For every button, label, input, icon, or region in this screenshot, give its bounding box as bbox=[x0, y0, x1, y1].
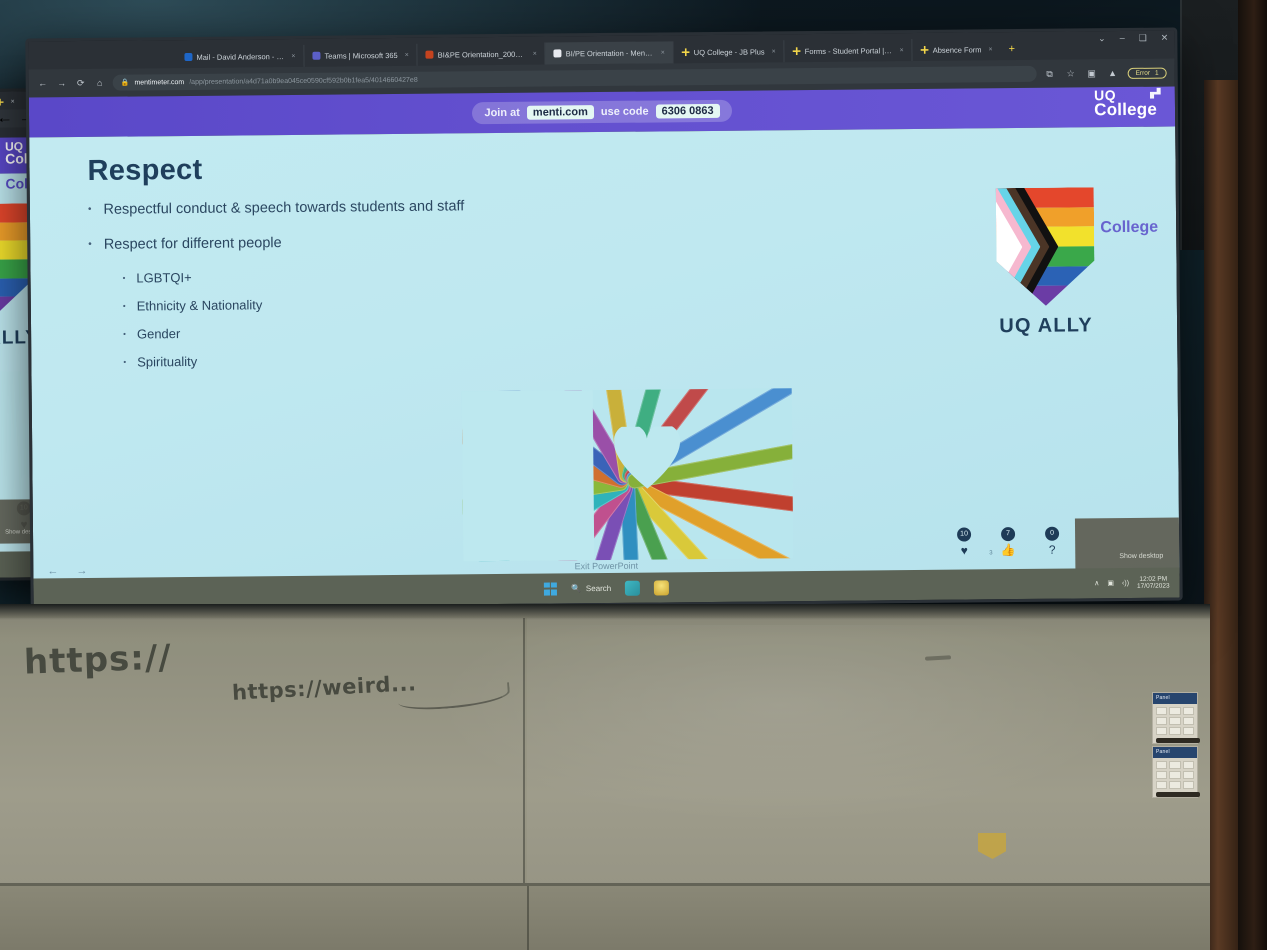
wall-control-panel[interactable]: Panel bbox=[1152, 692, 1198, 744]
sub-bullet-text: Ethnicity & Nationality bbox=[137, 298, 263, 314]
minimize-icon[interactable]: – bbox=[1120, 33, 1125, 44]
show-desktop-label[interactable]: Show desktop bbox=[1119, 553, 1163, 560]
bullet-marker: • bbox=[88, 236, 92, 255]
join-domain: menti.com bbox=[527, 105, 594, 120]
thumbs-up-icon: 👍 bbox=[997, 543, 1019, 557]
sub-bullet-item: • LGBTQI+ bbox=[123, 267, 519, 286]
tray-chevron-icon[interactable]: ∧ bbox=[1094, 579, 1099, 587]
wall-panel-buttons[interactable] bbox=[1153, 758, 1197, 792]
tray-network-icon[interactable]: ▣ bbox=[1107, 579, 1114, 587]
whiteboard-lower-seam bbox=[527, 886, 529, 950]
url-host: mentimeter.com bbox=[134, 79, 184, 86]
taskbar-search[interactable]: 🔍 Search bbox=[571, 583, 611, 592]
plus-icon bbox=[682, 48, 690, 56]
teal-app-icon[interactable] bbox=[625, 580, 640, 595]
chevron-down-icon[interactable]: ⌄ bbox=[1098, 33, 1106, 44]
taskbar-clock[interactable]: 12:02 PM 17/07/2023 bbox=[1137, 575, 1170, 590]
join-code: 6306 0863 bbox=[656, 104, 720, 119]
hands-forming-heart-image bbox=[462, 388, 794, 561]
start-icon[interactable] bbox=[544, 582, 557, 595]
tab-close-icon[interactable]: × bbox=[988, 46, 992, 53]
browser-tab[interactable]: Absence Form × bbox=[913, 38, 1001, 61]
wall-panel-bar bbox=[1156, 738, 1200, 743]
sub-bullet-text: LGBTQI+ bbox=[136, 270, 191, 286]
left-tab-close[interactable]: × bbox=[11, 99, 15, 106]
reaction-heart[interactable]: 10 ♥ bbox=[953, 527, 975, 557]
slide-navigation[interactable]: ← → bbox=[47, 565, 87, 577]
tab-close-icon[interactable]: × bbox=[291, 52, 295, 59]
sub-bullet-text: Gender bbox=[137, 326, 181, 341]
left-back-icon[interactable]: ← bbox=[0, 110, 13, 128]
sub-bullet-text: Spirituality bbox=[137, 354, 197, 370]
bullet-item: • Respect for different people bbox=[88, 232, 518, 255]
show-desktop-strip[interactable] bbox=[1075, 517, 1180, 574]
window-controls[interactable]: ⌄ – ❑ ✕ bbox=[1098, 33, 1168, 45]
taskbar-center-group[interactable]: 🔍 Search bbox=[544, 580, 669, 596]
browser-tab[interactable]: BI&PE Orientation_200331.pptx × bbox=[418, 43, 546, 66]
pride-chevron bbox=[996, 188, 1053, 307]
slide-title: Respect bbox=[87, 154, 202, 188]
lock-icon: 🔒 bbox=[121, 79, 130, 87]
wall-control-panel[interactable]: Panel bbox=[1152, 746, 1198, 798]
primary-monitor: Mail - David Anderson - Outlook × Teams … bbox=[25, 27, 1182, 611]
tray-volume-icon[interactable]: ‹)) bbox=[1122, 579, 1129, 586]
sub-bullet-marker: • bbox=[123, 271, 126, 286]
question-icon: ? bbox=[1041, 543, 1063, 557]
url-path: /app/presentation/a4d71a0b9ea045ce0590cf… bbox=[189, 76, 418, 85]
forward-icon[interactable]: → bbox=[56, 78, 68, 88]
heart-count: 10 bbox=[957, 527, 971, 541]
refresh-icon[interactable]: ⟳ bbox=[75, 77, 87, 88]
browser-tab[interactable]: UQ College - JB Plus × bbox=[674, 40, 785, 63]
close-icon[interactable]: ✕ bbox=[1161, 33, 1169, 44]
sub-bullet-marker: • bbox=[123, 299, 126, 314]
wall-panel-bar bbox=[1156, 792, 1200, 797]
toolbar-actions[interactable]: ⧉ ☆ ▣ ▲ Error 1 bbox=[1044, 67, 1167, 79]
outlook-icon bbox=[184, 53, 192, 61]
plus-icon bbox=[793, 47, 801, 55]
plus-icon bbox=[0, 99, 4, 106]
whiteboard-lower-row bbox=[0, 886, 1210, 950]
address-bar[interactable]: 🔒 mentimeter.com /app/presentation/a4d71… bbox=[113, 66, 1037, 91]
bulb-app-icon[interactable] bbox=[654, 580, 669, 595]
next-slide-button[interactable]: → bbox=[76, 565, 87, 577]
new-tab-button[interactable]: + bbox=[1000, 38, 1023, 60]
error-badge[interactable]: Error 1 bbox=[1128, 67, 1167, 78]
join-mid-text: use code bbox=[601, 106, 649, 118]
clock-date: 17/07/2023 bbox=[1137, 583, 1170, 591]
wall-panel-buttons[interactable] bbox=[1153, 704, 1197, 738]
question-count: 0 bbox=[1045, 527, 1059, 541]
reaction-thumbs-up[interactable]: 7 👍 3 bbox=[997, 527, 1019, 557]
audience-reactions[interactable]: 10 ♥ 7 👍 3 0 ? bbox=[953, 527, 1063, 558]
sub-bullet-marker: • bbox=[123, 327, 126, 342]
heart-icon: ♥ bbox=[953, 543, 975, 557]
wooden-door-edge bbox=[1238, 0, 1267, 950]
tab-close-icon[interactable]: × bbox=[661, 49, 665, 56]
search-icon: 🔍 bbox=[571, 584, 581, 593]
progress-pride-shield-icon bbox=[996, 187, 1095, 306]
plus-icon bbox=[921, 46, 929, 54]
thumbs-up-count: 7 bbox=[1001, 527, 1015, 541]
browser-tab[interactable]: Teams | Microsoft 365 × bbox=[304, 44, 418, 67]
sub-bullet-marker: • bbox=[123, 355, 126, 370]
logo-line-2: College bbox=[1094, 102, 1157, 119]
wall-panel-label: Panel bbox=[1153, 693, 1197, 704]
join-prefix: Join at bbox=[484, 107, 520, 119]
browser-tab-active[interactable]: BI/PE Orientation - Mentimeter × bbox=[546, 41, 674, 64]
logo-ghost-text: College bbox=[1100, 219, 1158, 238]
browser-tab[interactable]: Forms - Student Portal | UQ Co × bbox=[785, 39, 913, 62]
profile-icon[interactable]: ▲ bbox=[1107, 68, 1119, 78]
bullet-text: Respect for different people bbox=[104, 234, 282, 255]
tab-close-icon[interactable]: × bbox=[772, 48, 776, 55]
tab-close-icon[interactable]: × bbox=[900, 47, 904, 54]
classroom-scene: × – □ × ← → ⟳ ⌂ Error UQ College College bbox=[0, 0, 1267, 950]
uq-college-logo: UQ College bbox=[1094, 89, 1157, 119]
bullet-marker: • bbox=[88, 201, 92, 220]
slide-bullet-list: • Respectful conduct & speech towards st… bbox=[88, 197, 520, 383]
mentimeter-icon bbox=[554, 49, 562, 57]
bullet-text: Respectful conduct & speech towards stud… bbox=[103, 197, 464, 220]
whiteboard-handwriting-line-1: https:// bbox=[23, 637, 172, 682]
tab-close-icon[interactable]: × bbox=[405, 51, 409, 58]
sub-bullet-item: • Ethnicity & Nationality bbox=[123, 295, 519, 314]
favorite-icon[interactable]: ☆ bbox=[1065, 68, 1077, 79]
system-tray[interactable]: ∧ ▣ ‹)) 12:02 PM 17/07/2023 bbox=[1094, 575, 1169, 591]
slide-sub-bullet-list: • LGBTQI+ • Ethnicity & Nationality • Ge… bbox=[123, 267, 520, 370]
teams-icon bbox=[312, 52, 320, 60]
uq-ally-block: UQ ALLY bbox=[996, 187, 1095, 338]
uq-ally-label: UQ ALLY bbox=[997, 314, 1095, 338]
collections-icon[interactable]: ▣ bbox=[1086, 68, 1098, 79]
browser-tab[interactable]: Mail - David Anderson - Outlook × bbox=[176, 45, 304, 68]
join-instructions: Join at menti.com use code 6306 0863 bbox=[472, 100, 731, 124]
reaction-question[interactable]: 0 ? bbox=[1041, 527, 1063, 557]
home-icon[interactable]: ⌂ bbox=[94, 78, 106, 88]
sub-bullet-item: • Gender bbox=[123, 323, 519, 342]
search-placeholder: Search bbox=[586, 583, 611, 592]
presentation-slide: College Respect • Respectful conduct & s… bbox=[29, 127, 1179, 585]
image-left-blank-area bbox=[462, 390, 595, 561]
powerpoint-icon bbox=[426, 51, 434, 59]
previous-slide-button[interactable]: ← bbox=[47, 565, 58, 577]
back-icon[interactable]: ← bbox=[37, 78, 49, 88]
maximize-icon[interactable]: ❑ bbox=[1139, 33, 1147, 44]
share-icon[interactable]: ⧉ bbox=[1044, 68, 1056, 79]
exit-powerpoint-button[interactable]: Exit PowerPoint bbox=[575, 561, 639, 572]
sub-bullet-item: • Spirituality bbox=[123, 351, 519, 370]
tab-close-icon[interactable]: × bbox=[533, 50, 537, 57]
bullet-item: • Respectful conduct & speech towards st… bbox=[88, 197, 518, 220]
thumbs-up-sub-count: 3 bbox=[989, 550, 992, 556]
whiteboard-panel-right bbox=[527, 618, 1210, 883]
wall-panel-label: Panel bbox=[1153, 747, 1197, 758]
